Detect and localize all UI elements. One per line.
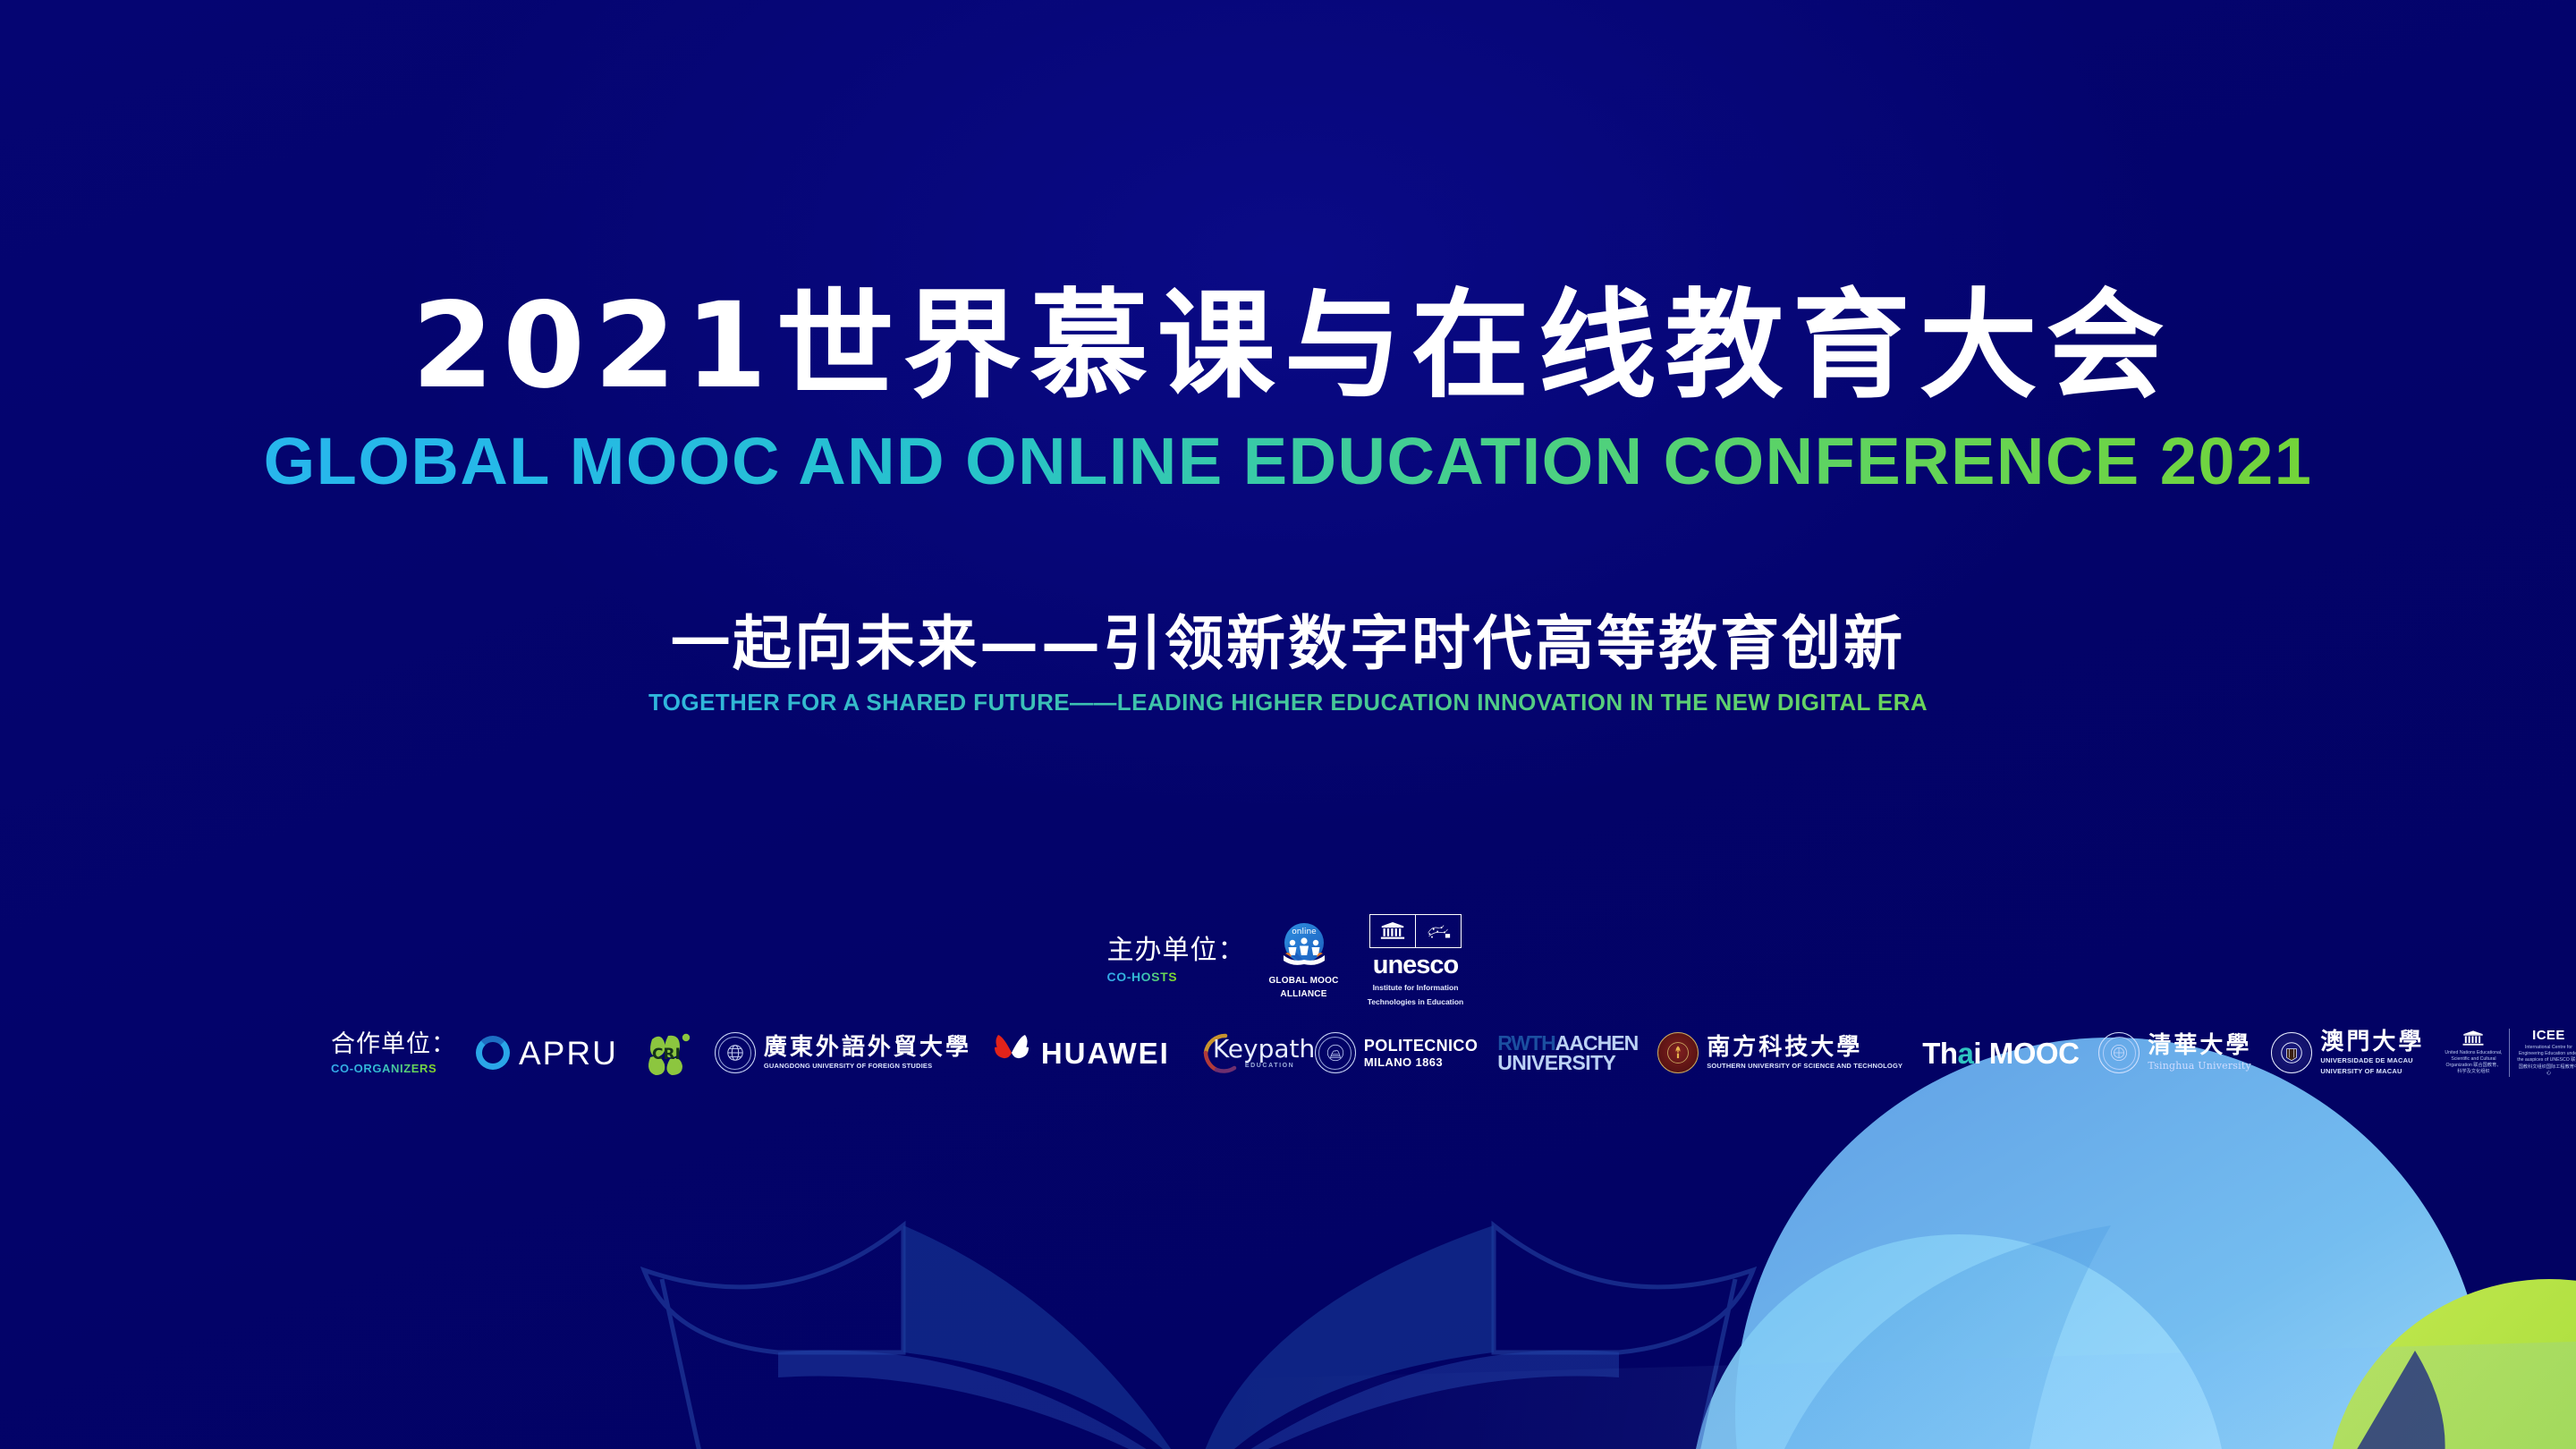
logo-unesco-iite[interactable]: unesco Institute for Information Technol… xyxy=(1362,914,1470,1006)
cohosts-section: 主办单位： CO-HOSTS online xyxy=(0,914,2576,1006)
coorganizers-label-cn: 合作单位： xyxy=(331,1032,456,1056)
logo-huawei[interactable]: HUAWEI xyxy=(991,1033,1170,1072)
coorganizers-label-en: CO-ORGANIZERS xyxy=(331,1063,436,1074)
tsinghua-names: 清華大學 Tsinghua University xyxy=(2148,1034,2251,1072)
keypath-subtext: EDUCATION xyxy=(1245,1063,1295,1069)
bottom-sheen xyxy=(1234,1342,2576,1449)
open-book-watermark xyxy=(608,1109,1789,1449)
macau-name-en2: UNIVERSITY OF MACAU xyxy=(2320,1067,2424,1075)
macau-seal-icon xyxy=(2271,1032,2312,1073)
gdufs-seal-icon xyxy=(715,1032,756,1073)
sustech-name-cn: 南方科技大學 xyxy=(1707,1036,1902,1059)
huawei-flower-icon xyxy=(991,1033,1032,1072)
cohosts-label-en: CO-HOSTS xyxy=(1107,970,1178,983)
thai-mooc-part-a: Th xyxy=(1922,1037,1957,1070)
icee-wordmark: ICEE xyxy=(2532,1029,2565,1042)
logo-keypath[interactable]: Keypath EDUCATION xyxy=(1190,1027,1295,1079)
rwth-line1: RWTHAACHEN xyxy=(1497,1033,1638,1053)
icee-unesco-caption: United Nations Educational, Scientific a… xyxy=(2444,1050,2503,1075)
decorative-artwork-layer xyxy=(0,0,2576,1449)
logo-politecnico-milano[interactable]: POLITECNICO MILANO 1863 xyxy=(1315,1032,1478,1073)
macau-names: 澳門大學 UNIVERSIDADE DE MACAU UNIVERSITY OF… xyxy=(2320,1030,2424,1076)
svg-text:online: online xyxy=(1292,928,1317,936)
sustech-name-en: SOUTHERN UNIVERSITY OF SCIENCE AND TECHN… xyxy=(1707,1062,1902,1070)
conference-title-cn: 2021世界慕课与在线教育大会 xyxy=(0,284,2576,409)
icee-caption: International Centre for Engineering Edu… xyxy=(2516,1045,2576,1076)
headline-block: 2021世界慕课与在线教育大会 GLOBAL MOOC AND ONLINE E… xyxy=(0,284,2576,495)
logo-guangdong-university-of-foreign-studies[interactable]: 廣東外語外貿大學 GUANGDONG UNIVERSITY OF FOREIGN… xyxy=(715,1032,971,1073)
unesco-iite-sub1: Institute for Information xyxy=(1373,983,1459,993)
polimi-line2: MILANO 1863 xyxy=(1364,1056,1478,1068)
logo-university-of-macau[interactable]: 澳門大學 UNIVERSIDADE DE MACAU UNIVERSITY OF… xyxy=(2271,1030,2424,1076)
global-mooc-alliance-line2: ALLIANCE xyxy=(1280,989,1326,1000)
unesco-temple-icon xyxy=(2462,1030,2485,1047)
conference-title-en: GLOBAL MOOC AND ONLINE EDUCATION CONFERE… xyxy=(0,428,2576,495)
tsinghua-name-en: Tsinghua University xyxy=(2148,1060,2251,1072)
thai-mooc-part-c: i MOOC xyxy=(1973,1037,2079,1070)
tagline-en: TOGETHER FOR A SHARED FUTURE——LEADING HI… xyxy=(0,690,2576,716)
global-mooc-alliance-icon: online xyxy=(1276,921,1332,973)
icee-unesco-block: United Nations Educational, Scientific a… xyxy=(2444,1030,2503,1075)
thai-mooc-wordmark: Thai MOOC xyxy=(1922,1038,2079,1068)
macau-name-cn: 澳門大學 xyxy=(2320,1030,2424,1054)
unesco-wordmark: unesco xyxy=(1373,953,1459,979)
cohosts-label-cn: 主办单位： xyxy=(1107,937,1246,964)
polimi-line1: POLITECNICO xyxy=(1364,1038,1478,1054)
unesco-globe-network-icon xyxy=(1416,914,1462,948)
conference-banner: 2021世界慕课与在线教育大会 GLOBAL MOOC AND ONLINE E… xyxy=(0,0,2576,1449)
apru-wordmark: APRU xyxy=(519,1037,618,1070)
polimi-seal-icon xyxy=(1315,1032,1356,1073)
sustech-torch-seal-icon xyxy=(1657,1032,1699,1073)
logo-cri[interactable]: CRI xyxy=(638,1027,695,1079)
logo-rwth-aachen-university[interactable]: RWTHAACHEN UNIVERSITY xyxy=(1497,1033,1638,1072)
cohosts-label: 主办单位： CO-HOSTS xyxy=(1107,937,1246,983)
thai-mooc-drop-glyph: a xyxy=(1958,1037,1974,1070)
gdufs-name-cn: 廣東外語外貿大學 xyxy=(764,1036,971,1059)
coorganizers-label: 合作单位： CO-ORGANIZERS xyxy=(331,1032,456,1074)
cri-leaf-icon: CRI xyxy=(638,1027,695,1079)
cri-wordmark: CRI xyxy=(652,1046,681,1063)
tsinghua-seal-icon xyxy=(2098,1032,2140,1073)
global-mooc-alliance-line1: GLOBAL MOOC xyxy=(1268,976,1338,987)
logo-icee[interactable]: United Nations Educational, Scientific a… xyxy=(2444,1029,2576,1076)
unesco-iite-sub2: Technologies in Education xyxy=(1368,997,1464,1007)
huawei-wordmark: HUAWEI xyxy=(1041,1038,1170,1068)
logo-tsinghua-university[interactable]: 清華大學 Tsinghua University xyxy=(2098,1032,2251,1073)
logo-southern-university-of-science-and-technology[interactable]: 南方科技大學 SOUTHERN UNIVERSITY OF SCIENCE AN… xyxy=(1657,1032,1902,1073)
icee-divider xyxy=(2509,1029,2510,1076)
keypath-wordmark: Keypath xyxy=(1213,1037,1315,1062)
petal-graphic xyxy=(1538,930,2576,1449)
gdufs-names: 廣東外語外貿大學 GUANGDONG UNIVERSITY OF FOREIGN… xyxy=(764,1036,971,1070)
unesco-emblems xyxy=(1369,914,1462,948)
logo-apru[interactable]: APRU xyxy=(476,1036,618,1070)
tagline-cn: 一起向未来——引领新数字时代高等教育创新 xyxy=(0,608,2576,679)
icee-name-block: ICEE International Centre for Engineerin… xyxy=(2516,1029,2576,1076)
logo-global-mooc-alliance[interactable]: online GLOBAL MOOC ALLIANCE xyxy=(1269,921,1339,1000)
apru-ring-icon xyxy=(476,1036,510,1070)
unesco-temple-icon xyxy=(1369,914,1416,948)
sustech-names: 南方科技大學 SOUTHERN UNIVERSITY OF SCIENCE AN… xyxy=(1707,1036,1902,1070)
tagline-block: 一起向未来——引领新数字时代高等教育创新 TOGETHER FOR A SHAR… xyxy=(0,608,2576,716)
polimi-names: POLITECNICO MILANO 1863 xyxy=(1364,1038,1478,1068)
rwth-line2: UNIVERSITY xyxy=(1497,1053,1615,1072)
macau-name-en1: UNIVERSIDADE DE MACAU xyxy=(2320,1056,2424,1064)
coorganizers-section: 合作单位： CO-ORGANIZERS APRU CRI xyxy=(331,1027,2576,1079)
logo-thai-mooc[interactable]: Thai MOOC xyxy=(1922,1038,2079,1068)
gdufs-name-en: GUANGDONG UNIVERSITY OF FOREIGN STUDIES xyxy=(764,1062,971,1070)
tsinghua-name-cn: 清華大學 xyxy=(2148,1034,2251,1057)
